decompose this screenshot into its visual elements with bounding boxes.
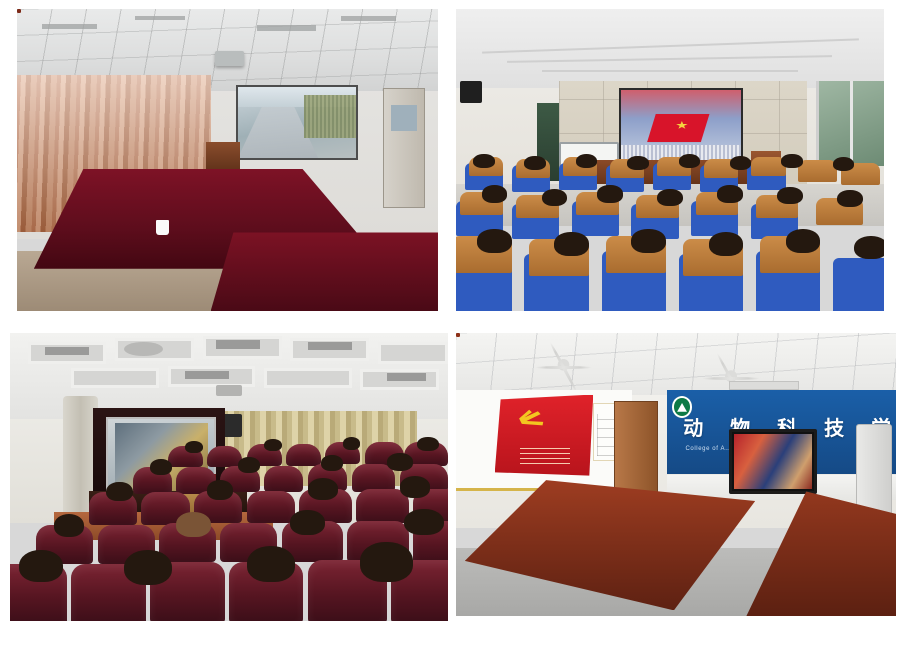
- screen-parade-vehicles: [304, 95, 356, 138]
- photo-bottom-left: [10, 333, 448, 621]
- hammer-and-sickle-icon: [514, 406, 548, 430]
- photo-top-left: [17, 9, 438, 311]
- lectern: [206, 142, 240, 172]
- photo-collage: 动 物 科 技 学 院 College of A… … Agricultural…: [0, 0, 900, 645]
- scene-auditorium: [10, 333, 448, 621]
- photo-top-right: [456, 9, 884, 311]
- ceiling-grid: [456, 333, 896, 395]
- led-wall: [619, 88, 743, 164]
- conference-table-front: [211, 232, 438, 311]
- room-door: [614, 401, 658, 494]
- tv-parade-broadcast: [734, 434, 812, 489]
- seating-rows: [456, 154, 884, 311]
- paper-cup: [156, 220, 169, 235]
- wall-mounted-television: [729, 429, 817, 494]
- ceiling: [456, 333, 896, 395]
- party-flag-wall: [456, 390, 632, 492]
- ceiling-fan: [124, 342, 163, 356]
- projector-screen: [236, 85, 358, 161]
- wall-speaker: [460, 81, 481, 102]
- led-national-flag: [647, 114, 709, 143]
- scene-meeting-room: 动 物 科 技 学 院 College of A… … Agricultural…: [456, 333, 896, 616]
- door-window: [391, 105, 417, 131]
- seating-rows: [10, 442, 448, 621]
- party-flag: [495, 395, 594, 476]
- flag-oath-text: [520, 446, 569, 464]
- ceiling: [456, 9, 884, 88]
- scene-conference-room: [17, 9, 438, 311]
- ceiling-light-bar: [729, 381, 799, 389]
- ceiling-fan-left: [535, 356, 592, 379]
- room-door: [383, 88, 425, 209]
- scene-lecture-hall: [456, 9, 884, 311]
- ceiling-projector: [216, 385, 242, 397]
- ceiling-projector: [215, 51, 244, 66]
- photo-bottom-right: 动 物 科 技 学 院 College of A… … Agricultural…: [456, 333, 896, 616]
